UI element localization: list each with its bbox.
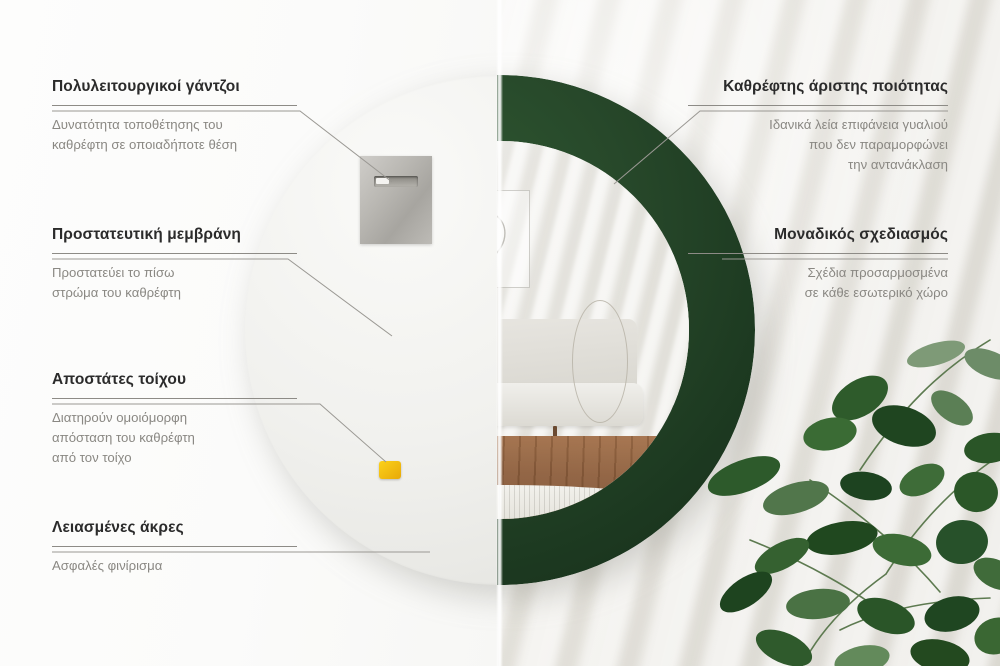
callout-hooks-title: Πολυλειτουργικοί γάντζοι (52, 78, 297, 96)
callout-design-title: Μοναδικός σχεδιασμός (688, 226, 948, 244)
callout-spacers: Αποστάτες τοίχου Διατηρούν ομοιόμορφηαπό… (52, 371, 297, 468)
hook-slot (374, 176, 418, 187)
wall-spacer-pad (379, 461, 401, 479)
callout-edges-desc: Ασφαλές φινίρισμα (52, 556, 297, 576)
callout-design-desc: Σχέδια προσαρμοσμένασε κάθε εσωτερικό χώ… (688, 263, 948, 303)
infographic-canvas: Πολυλειτουργικοί γάντζοι Δυνατότητα τοπο… (0, 0, 1000, 666)
callout-hooks-desc: Δυνατότητα τοποθέτησης τουκαθρέφτη σε οπ… (52, 115, 297, 155)
callout-quality-rule (688, 105, 948, 106)
callout-quality-title: Καθρέφτης άριστης ποιότητας (688, 78, 948, 96)
callout-membrane-title: Προστατευτική μεμβράνη (52, 226, 297, 244)
callout-hooks-rule (52, 105, 297, 106)
callout-membrane-desc: Προστατεύει το πίσωστρώμα του καθρέφτη (52, 263, 297, 303)
callout-edges-title: Λειασμένες άκρες (52, 519, 297, 537)
callout-spacers-title: Αποστάτες τοίχου (52, 371, 297, 389)
round-mirror-product (245, 75, 755, 585)
callout-quality-desc: Ιδανικά λεία επιφάνεια γυαλιούπου δεν πα… (688, 115, 948, 175)
mounting-hook-plate (360, 156, 432, 244)
callout-design: Μοναδικός σχεδιασμός Σχέδια προσαρμοσμέν… (688, 226, 948, 303)
lamp-ring-shade (572, 300, 629, 424)
callout-spacers-rule (52, 398, 297, 399)
callout-membrane: Προστατευτική μεμβράνη Προστατεύει το πί… (52, 226, 297, 303)
callout-edges-rule (52, 546, 297, 547)
reflected-floor-lamp (572, 300, 629, 459)
callout-edges: Λειασμένες άκρες Ασφαλές φινίρισμα (52, 519, 297, 576)
callout-design-rule (688, 253, 948, 254)
decorative-foliage (690, 330, 1000, 666)
callout-hooks: Πολυλειτουργικοί γάντζοι Δυνατότητα τοπο… (52, 78, 297, 155)
callout-membrane-rule (52, 253, 297, 254)
callout-spacers-desc: Διατηρούν ομοιόμορφηαπόσταση του καθρέφτ… (52, 408, 297, 468)
callout-quality: Καθρέφτης άριστης ποιότητας Ιδανικά λεία… (688, 78, 948, 175)
